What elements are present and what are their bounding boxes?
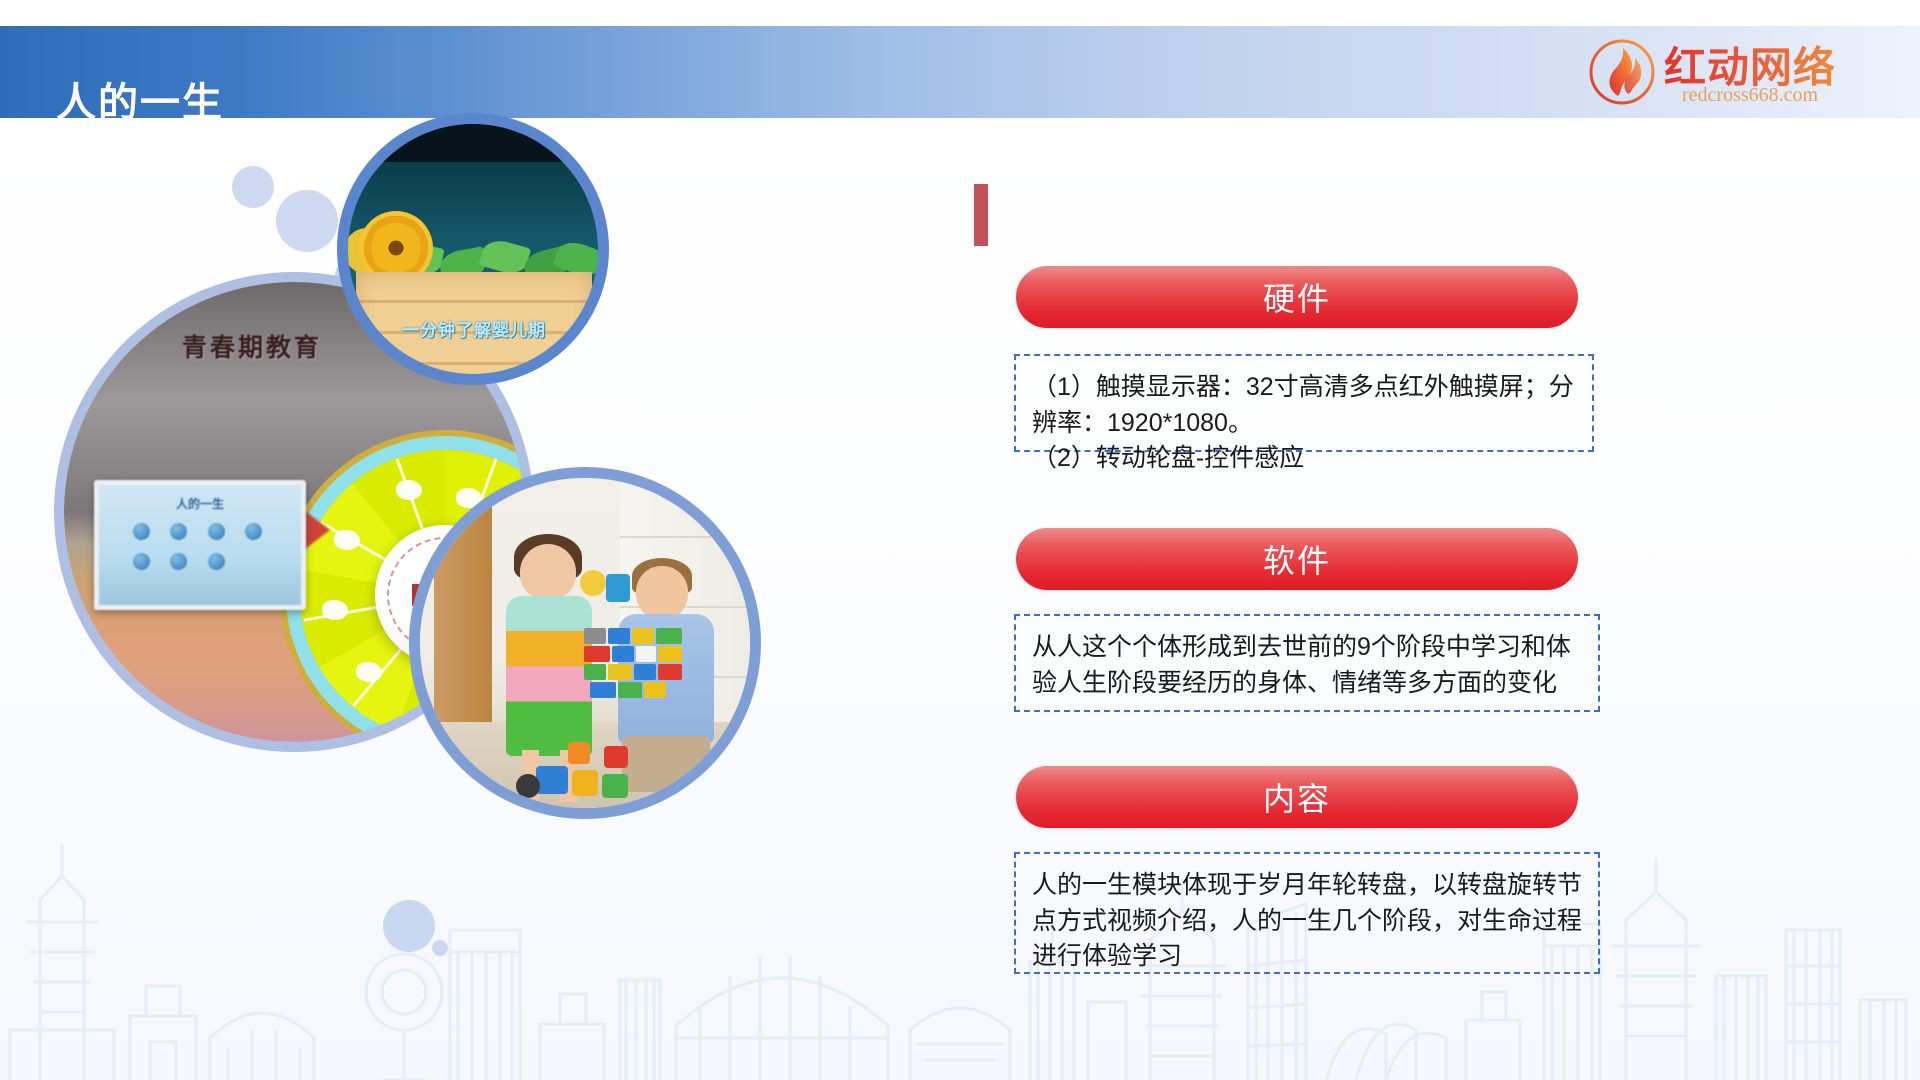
panel-body-software: 从人这个个体形成到去世前的9个阶段中学习和体验人生阶段要经历的身体、情绪等多方面… (1014, 614, 1600, 712)
hardware-line-1: （1）触摸显示器：32寸高清多点红外触摸屏；分辨率：1920*1080。 (1032, 370, 1576, 441)
exhibition-sign-text: 青春期教育 (182, 328, 322, 364)
slide-canvas: 人的一生 红动网络 redcross668.com (0, 0, 1920, 1080)
deco-circle-5 (432, 940, 448, 956)
boy-head (636, 566, 688, 620)
cartoon-letterbox (348, 124, 598, 162)
wheel-stage-icon-7 (356, 662, 382, 682)
panel-label-content-text: 内容 (1263, 774, 1331, 820)
hardware-line-2: （2）转动轮盘-控件感应 (1032, 441, 1576, 477)
screen-dot[interactable] (133, 553, 150, 570)
panel-body-content: 人的一生模块体现于岁月年轮转盘，以转盘旋转节点方式视频介绍，人的一生几个阶段，对… (1014, 852, 1600, 974)
toy-cube-red (604, 746, 628, 768)
panel-label-content[interactable]: 内容 (1016, 766, 1578, 828)
toy-flower-yellow (580, 570, 606, 596)
photo-circle-children-blocks[interactable] (420, 478, 750, 808)
logo-url: redcross668.com (1682, 84, 1818, 107)
toy-wheel-dark (516, 774, 540, 798)
girl-head (520, 544, 576, 600)
toy-cube-orange (568, 742, 590, 764)
touch-screen-buttons[interactable] (125, 519, 275, 579)
panel-body-hardware: （1）触摸显示器：32寸高清多点红外触摸屏；分辨率：1920*1080。 （2）… (1014, 354, 1594, 452)
top-white-strip (0, 0, 1920, 26)
screen-dot[interactable] (133, 523, 150, 540)
toy-cube-yellow (572, 770, 598, 796)
screen-dot[interactable] (170, 553, 187, 570)
panel-label-software-text: 软件 (1263, 536, 1331, 582)
sunflower-icon (364, 216, 428, 280)
wheel-stage-icon-9 (334, 530, 360, 550)
panel-label-software[interactable]: 软件 (1016, 528, 1578, 590)
boy-shorts (622, 736, 710, 792)
panel-label-hardware[interactable]: 硬件 (1016, 266, 1578, 328)
deco-circle-1 (232, 166, 274, 208)
toy-letter-d-magnet (606, 574, 630, 602)
software-line-1: 从人这个个体形成到去世前的9个阶段中学习和体验人生阶段要经历的身体、情绪等多方面… (1032, 630, 1582, 701)
page-title: 人的一生 (56, 70, 224, 128)
touch-screen-title: 人的一生 (99, 495, 301, 512)
wooden-sign-caption: 一分钟了解婴儿期 (356, 316, 592, 341)
brand-logo: 红动网络 redcross668.com (1588, 36, 1888, 110)
deco-circle-4 (383, 900, 435, 952)
screen-dot[interactable] (245, 523, 262, 540)
screen-dot[interactable] (170, 523, 187, 540)
toy-cylinder-blue (536, 766, 568, 794)
screen-dot[interactable] (208, 553, 225, 570)
wooden-door-frame (434, 498, 492, 738)
wheel-stage-icon-1 (396, 480, 422, 500)
girl-striped-dress (506, 596, 592, 756)
wooden-sign-board: 一分钟了解婴儿期 (356, 272, 592, 374)
deco-circle-2 (276, 190, 338, 252)
content-line-1: 人的一生模块体现于岁月年轮转盘，以转盘旋转节点方式视频介绍，人的一生几个阶段，对… (1032, 868, 1582, 975)
flame-circle-icon (1588, 38, 1656, 106)
touch-screen-display[interactable]: 人的一生 (94, 480, 306, 610)
section-accent-bar (974, 184, 988, 246)
lego-block-structure (584, 628, 694, 708)
city-skyline-watermark (0, 780, 1920, 1080)
toy-cube-green (602, 774, 628, 798)
photo-circle-infancy-video[interactable]: 一分钟了解婴儿期 (348, 124, 598, 374)
screen-dot[interactable] (208, 523, 225, 540)
panel-label-hardware-text: 硬件 (1263, 274, 1331, 320)
wheel-stage-icon-8 (322, 600, 348, 620)
